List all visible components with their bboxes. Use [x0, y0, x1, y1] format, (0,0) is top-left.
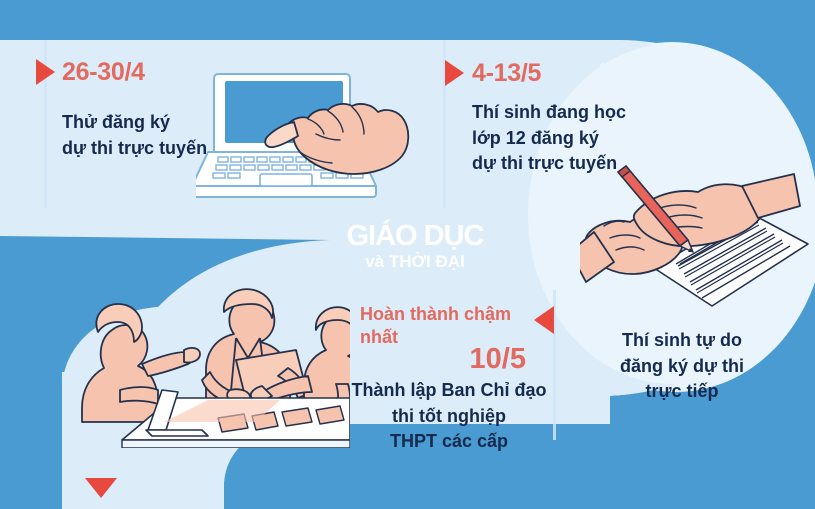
triangle-right-icon — [445, 60, 464, 86]
infographic-canvas: 26-30/4 Thử đăng ký dự thi trực tuyến — [0, 0, 815, 509]
hand-writing-icon — [580, 160, 815, 310]
step-2-marker — [445, 60, 464, 86]
step-4-deadline-label: Hoàn thành chậm nhất — [360, 303, 526, 348]
step-5-marker — [85, 478, 117, 498]
step-3-text: Thí sinh tự do đăng ký dự thi trực tiếp — [588, 328, 776, 405]
step-2-date: 4-13/5 — [472, 61, 541, 86]
triangle-right-icon — [36, 59, 55, 85]
step-4-marker — [534, 306, 554, 334]
triangle-left-icon — [534, 306, 554, 334]
step-1-date: 26-30/4 — [62, 60, 145, 85]
meeting-people-icon — [60, 272, 350, 448]
step-1-marker — [36, 59, 55, 85]
triangle-down-icon — [85, 478, 117, 498]
laptop-hand-icon — [196, 62, 414, 204]
step-4-date: 10/5 — [360, 345, 526, 374]
step-4-text: Thành lập Ban Chỉ đạo thi tốt nghiệp THP… — [336, 378, 562, 455]
